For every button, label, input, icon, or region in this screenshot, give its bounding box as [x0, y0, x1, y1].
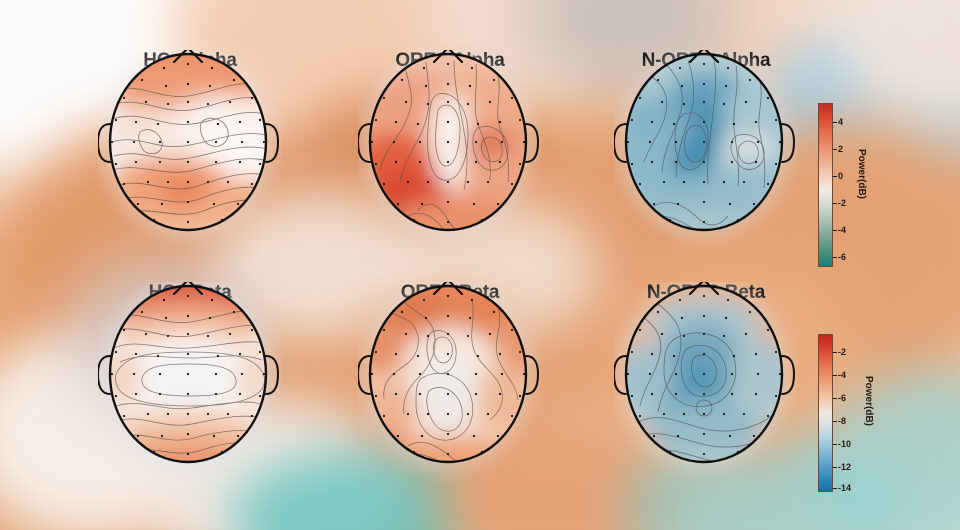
colorbar-beta-tick-5: -12 [833, 462, 851, 472]
colorbar-beta-tick-1: -4 [833, 370, 846, 380]
panel-n-ores-alpha: N-ORES Alpha [614, 50, 798, 250]
eeg-topomap-figure: HCs Alpha [0, 0, 960, 530]
colorbar-alpha-tick-3: -2 [833, 198, 846, 208]
panel-hcs-beta: HCs Beta [98, 282, 282, 482]
topomap-hcs-beta [98, 282, 282, 482]
colorbar-alpha-tick-5: -6 [833, 252, 846, 262]
colorbar-alpha-gradient [818, 103, 833, 267]
colorbar-alpha-tick-2: 0 [833, 171, 843, 181]
topomap-n-ores-beta [614, 282, 798, 482]
colorbar-beta-tick-6: -14 [833, 483, 851, 493]
colorbar-beta: -2 -4 -6 -8 -10 -12 -14 Power(dB) [818, 334, 888, 492]
colorbar-alpha-tick-4: -4 [833, 225, 846, 235]
panel-ores-alpha: ORES Alpha [358, 50, 542, 250]
panel-n-ores-beta: N-ORES Beta [614, 282, 798, 482]
colorbar-beta-tick-3: -8 [833, 416, 846, 426]
topomap-n-ores-alpha [614, 50, 798, 250]
topomap-ores-alpha [358, 50, 542, 250]
panel-ores-beta: ORES Beta [358, 282, 542, 482]
colorbar-alpha-label: Power(dB) [856, 149, 867, 239]
colorbar-beta-tick-2: -6 [833, 393, 846, 403]
topomap-ores-beta [358, 282, 542, 482]
colorbar-beta-tick-0: -2 [833, 347, 846, 357]
colorbar-beta-tick-4: -10 [833, 439, 851, 449]
colorbar-alpha-ticks: 4 2 0 -2 -4 -6 [833, 103, 873, 267]
colorbar-alpha-tick-1: 2 [833, 144, 843, 154]
panel-hcs-alpha: HCs Alpha [98, 50, 282, 250]
colorbar-beta-label: Power(dB) [863, 376, 874, 466]
colorbar-alpha-tick-0: 4 [833, 117, 843, 127]
colorbar-alpha: 4 2 0 -2 -4 -6 Power(dB) [818, 103, 888, 267]
topomap-hcs-alpha [98, 50, 282, 250]
colorbar-beta-gradient [818, 334, 833, 492]
